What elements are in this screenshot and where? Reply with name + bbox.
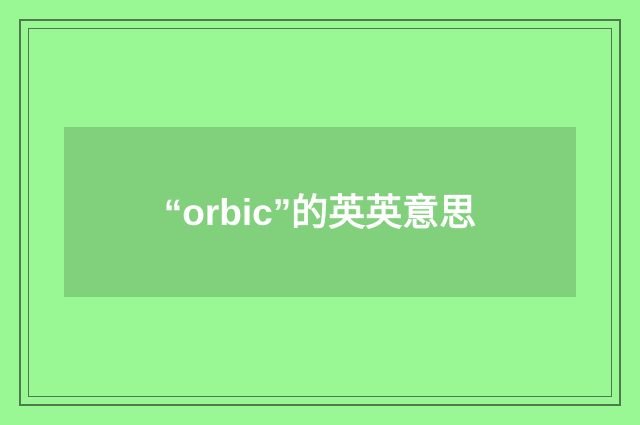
title-overlay-panel: “orbic”的英英意思 [64, 127, 576, 297]
page-title: “orbic”的英英意思 [155, 183, 485, 242]
image-card: “orbic”的英英意思 [0, 0, 640, 425]
